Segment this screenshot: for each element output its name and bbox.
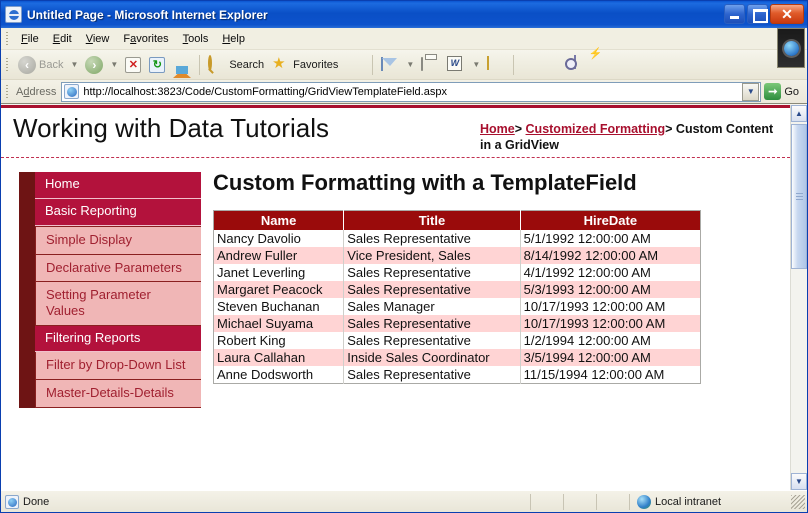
sidebar-accent-bar	[19, 352, 35, 380]
sidebar-accent-bar	[19, 326, 35, 353]
favorites-button[interactable]: ★ Favorites	[268, 54, 342, 76]
cell-hiredate: 8/14/1992 12:00:00 AM	[520, 247, 700, 264]
status-divider	[629, 494, 630, 510]
sidebar-item-basic-reporting[interactable]: Basic Reporting	[19, 199, 201, 226]
menu-item-file[interactable]: File	[14, 31, 46, 47]
status-text: Done	[23, 496, 49, 508]
cell-name: Anne Dodsworth	[214, 366, 344, 384]
breadcrumb-link-home[interactable]: Home	[480, 122, 515, 136]
breadcrumb-separator-2: >	[665, 122, 672, 136]
cell-hiredate: 11/15/1994 12:00:00 AM	[520, 366, 700, 384]
status-page-icon	[5, 495, 19, 509]
sidebar-item-master-details-details[interactable]: Master-Details-Details	[19, 380, 201, 408]
notes-icon	[487, 56, 505, 74]
go-button[interactable]: ➞ Go	[761, 82, 805, 101]
table-row: Anne Dodsworth Sales Representative 11/1…	[214, 366, 701, 384]
menu-item-help[interactable]: Help	[215, 31, 252, 47]
employees-gridview: Name Title HireDate Nancy Davolio Sales …	[213, 210, 701, 384]
page-viewport: Working with Data Tutorials Home> Custom…	[1, 104, 807, 490]
page-title: Working with Data Tutorials	[13, 114, 329, 144]
notes-button[interactable]	[483, 54, 509, 76]
address-url-text: http://localhost:3823/Code/CustomFormatt…	[83, 86, 742, 98]
sidebar-accent-bar	[19, 172, 35, 199]
breadcrumb-link-customized-formatting[interactable]: Customized Formatting	[526, 122, 666, 136]
cell-hiredate: 5/1/1992 12:00:00 AM	[520, 230, 700, 247]
toolbar-grip-handle[interactable]	[4, 57, 11, 73]
address-label: Address	[14, 86, 61, 98]
cell-hiredate: 4/1/1992 12:00:00 AM	[520, 264, 700, 281]
address-input[interactable]: http://localhost:3823/Code/CustomFormatt…	[61, 82, 761, 102]
cell-name: Michael Suyama	[214, 315, 344, 332]
sidebar-item-simple-display[interactable]: Simple Display	[19, 226, 201, 255]
sidebar-item-filtering-reports[interactable]: Filtering Reports	[19, 326, 201, 353]
messenger-icon	[600, 56, 618, 74]
stop-button[interactable]: ✕	[121, 55, 145, 75]
mail-icon	[381, 56, 399, 74]
column-header-hiredate: HireDate	[520, 211, 700, 231]
scroll-up-arrow-icon[interactable]: ▲	[791, 105, 807, 122]
address-chevron-down-icon[interactable]: ▼	[742, 83, 759, 101]
cell-hiredate: 5/3/1993 12:00:00 AM	[520, 281, 700, 298]
forward-icon: ›	[85, 56, 103, 74]
toolbar-divider-2	[372, 55, 373, 75]
table-header-row: Name Title HireDate	[214, 211, 701, 231]
stop-icon: ✕	[125, 57, 141, 73]
cell-name: Laura Callahan	[214, 349, 344, 366]
scroll-down-arrow-icon[interactable]: ▼	[791, 473, 807, 490]
breadcrumb: Home> Customized Formatting> Custom Cont…	[480, 114, 780, 153]
table-body: Nancy Davolio Sales Representative 5/1/1…	[214, 230, 701, 384]
back-label: Back	[39, 59, 63, 71]
sidebar-item-label: Master-Details-Details	[35, 380, 201, 408]
minimize-button[interactable]	[724, 4, 745, 24]
sidebar-accent-bar	[19, 255, 35, 283]
search-icon	[208, 56, 226, 74]
sidebar-item-setting-parameter-values[interactable]: Setting Parameter Values	[19, 282, 201, 325]
favorites-star-icon: ★	[272, 56, 290, 74]
sidebar-item-label: Basic Reporting	[35, 199, 201, 226]
cell-name: Margaret Peacock	[214, 281, 344, 298]
status-divider	[596, 494, 597, 510]
search-label: Search	[229, 59, 264, 71]
cell-title: Inside Sales Coordinator	[344, 349, 520, 366]
cell-hiredate: 10/17/1993 12:00:00 AM	[520, 315, 700, 332]
back-icon: ‹	[18, 56, 36, 74]
menu-item-edit[interactable]: Edit	[46, 31, 79, 47]
status-divider	[563, 494, 564, 510]
sidebar-item-label: Home	[35, 172, 201, 199]
column-header-title: Title	[344, 211, 520, 231]
web-page: Working with Data Tutorials Home> Custom…	[1, 105, 790, 490]
sidebar-item-home[interactable]: Home	[19, 172, 201, 199]
title-bar: Untitled Page - Microsoft Internet Explo…	[1, 1, 807, 28]
ie-animated-logo	[777, 28, 805, 68]
menu-item-favorites[interactable]: Favorites	[116, 31, 175, 47]
sidebar-accent-bar	[19, 199, 35, 226]
home-button[interactable]	[169, 54, 195, 76]
table-row: Margaret Peacock Sales Representative 5/…	[214, 281, 701, 298]
sidebar-accent-bar	[19, 282, 35, 325]
navigation-toolbar: ‹ Back ▼ › ▼ ✕ ↻ Search ★ Favorites	[1, 50, 807, 80]
sidebar-item-declarative-parameters[interactable]: Declarative Parameters	[19, 255, 201, 283]
scrollbar-thumb[interactable]	[791, 124, 807, 269]
scrollbar-track[interactable]	[791, 122, 807, 473]
ie-page-icon	[5, 6, 22, 23]
sidebar-item-label: Filter by Drop-Down List	[35, 352, 201, 380]
cell-title: Sales Manager	[344, 298, 520, 315]
forward-history-chevron-down-icon[interactable]: ▼	[110, 60, 118, 69]
window-title: Untitled Page - Microsoft Internet Explo…	[27, 8, 268, 22]
sidebar-item-filter-by-drop-down-list[interactable]: Filter by Drop-Down List	[19, 352, 201, 380]
cell-title: Sales Representative	[344, 332, 520, 349]
status-bar: Done Local intranet	[1, 490, 807, 512]
cell-title: Sales Representative	[344, 315, 520, 332]
security-zone-label: Local intranet	[655, 496, 721, 508]
cell-title: Sales Representative	[344, 366, 520, 384]
home-icon	[173, 56, 191, 74]
sidebar-navigation: Home Basic Reporting Simple Display Decl…	[1, 158, 201, 490]
cell-hiredate: 10/17/1993 12:00:00 AM	[520, 298, 700, 315]
sidebar-item-label: Declarative Parameters	[35, 255, 201, 283]
ie-browser-window: Untitled Page - Microsoft Internet Explo…	[0, 0, 808, 513]
cell-title: Sales Representative	[344, 264, 520, 281]
go-arrow-icon: ➞	[764, 83, 781, 100]
main-content: Custom Formatting with a TemplateField N…	[201, 158, 790, 490]
status-divider	[530, 494, 531, 510]
refresh-icon: ↻	[149, 57, 165, 73]
resize-grip[interactable]	[791, 495, 805, 509]
favorites-label: Favorites	[293, 59, 338, 71]
page-scrollbar-vertical[interactable]: ▲ ▼	[790, 105, 807, 490]
cell-hiredate: 3/5/1994 12:00:00 AM	[520, 349, 700, 366]
cell-name: Janet Leverling	[214, 264, 344, 281]
cell-hiredate: 1/2/1994 12:00:00 AM	[520, 332, 700, 349]
cell-title: Sales Representative	[344, 281, 520, 298]
cell-name: Nancy Davolio	[214, 230, 344, 247]
table-row: Janet Leverling Sales Representative 4/1…	[214, 264, 701, 281]
table-row: Laura Callahan Inside Sales Coordinator …	[214, 349, 701, 366]
table-row: Nancy Davolio Sales Representative 5/1/1…	[214, 230, 701, 247]
table-row: Andrew Fuller Vice President, Sales 8/14…	[214, 247, 701, 264]
media-icon	[346, 56, 364, 74]
go-label: Go	[784, 86, 799, 98]
toolbar-divider-3	[513, 55, 514, 75]
print-button[interactable]	[417, 54, 443, 76]
status-message-pane: Done	[1, 495, 529, 509]
search-button[interactable]: Search	[204, 54, 268, 76]
globe-icon	[522, 56, 540, 74]
cell-name: Andrew Fuller	[214, 247, 344, 264]
back-button[interactable]: ‹ Back	[14, 54, 67, 76]
media-button[interactable]	[342, 54, 368, 76]
page-header: Working with Data Tutorials Home> Custom…	[1, 108, 790, 158]
edit-chevron-down-icon[interactable]: ▼	[472, 60, 480, 69]
mail-chevron-down-icon[interactable]: ▼	[406, 60, 414, 69]
column-header-name: Name	[214, 211, 344, 231]
toolbar-divider	[199, 55, 200, 75]
sidebar-item-label: Simple Display	[35, 226, 201, 255]
maximize-button[interactable]	[747, 4, 768, 24]
sidebar-accent-bar	[19, 226, 35, 255]
security-zone-pane[interactable]: Local intranet	[631, 495, 791, 509]
globe-button[interactable]	[518, 54, 544, 76]
page-body: Home Basic Reporting Simple Display Decl…	[1, 158, 790, 490]
menu-item-tools[interactable]: Tools	[176, 31, 216, 47]
cell-name: Robert King	[214, 332, 344, 349]
mail-button[interactable]	[377, 54, 403, 76]
sidebar-accent-bar	[19, 380, 35, 408]
menu-bar: File Edit View Favorites Tools Help	[1, 28, 807, 50]
table-row: Steven Buchanan Sales Manager 10/17/1993…	[214, 298, 701, 315]
edit-word-button[interactable]: W	[443, 54, 469, 76]
cell-name: Steven Buchanan	[214, 298, 344, 315]
edit-word-icon: W	[447, 56, 465, 74]
fox-icon	[548, 56, 566, 74]
page-favicon-icon	[64, 84, 79, 99]
cell-title: Sales Representative	[344, 230, 520, 247]
menu-item-view[interactable]: View	[79, 31, 117, 47]
print-icon	[421, 56, 439, 74]
sidebar-item-label: Filtering Reports	[35, 326, 201, 353]
forward-button[interactable]: ›	[81, 54, 107, 76]
refresh-button[interactable]: ↻	[145, 55, 169, 75]
cell-title: Vice President, Sales	[344, 247, 520, 264]
table-row: Robert King Sales Representative 1/2/199…	[214, 332, 701, 349]
back-history-chevron-down-icon[interactable]: ▼	[70, 60, 78, 69]
table-row: Michael Suyama Sales Representative 10/1…	[214, 315, 701, 332]
messenger-button[interactable]	[596, 54, 622, 76]
address-bar: Address http://localhost:3823/Code/Custo…	[1, 80, 807, 104]
sidebar-item-label: Setting Parameter Values	[35, 282, 201, 325]
close-button[interactable]	[770, 4, 804, 24]
address-grip-handle[interactable]	[4, 84, 11, 100]
local-intranet-globe-icon	[637, 495, 651, 509]
breadcrumb-separator-1: >	[515, 122, 522, 136]
window-controls	[724, 4, 804, 24]
content-heading: Custom Formatting with a TemplateField	[213, 170, 778, 196]
menu-grip-handle[interactable]	[4, 31, 11, 47]
